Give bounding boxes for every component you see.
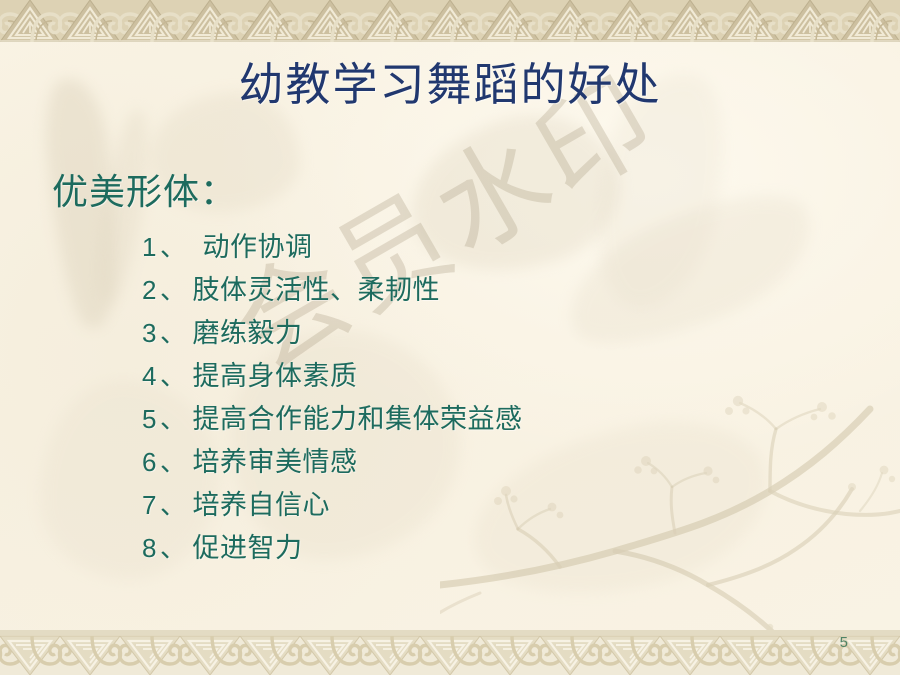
list-item: 4 、 提高身体素质	[142, 354, 862, 397]
slide-title: 幼教学习舞蹈的好处	[0, 48, 900, 113]
list-item: 5 、 提高合作能力和集体荣益感	[142, 397, 862, 440]
list-item: 7 、 培养自信心	[142, 483, 862, 526]
list-item-label: 培养审美情感	[193, 440, 358, 479]
list-item-label: 肢体灵活性、柔韧性	[193, 268, 441, 307]
list-item: 1 、 动作协调	[142, 225, 862, 268]
presentation-slide: 会员水印 幼教学习舞蹈的好处 优美形体： 1 、 动作协调 2 、 肢体灵活性、…	[0, 0, 900, 675]
top-border-ornament	[0, 0, 900, 42]
list-item-label: 促进智力	[193, 526, 303, 565]
list-item-number: 4	[142, 361, 160, 392]
section-heading: 优美形体：	[52, 163, 237, 215]
list-item-separator: 、	[160, 356, 187, 393]
list-item-separator: 、	[160, 528, 187, 565]
list-item-separator: 、	[160, 442, 187, 479]
list-item-separator: 、	[160, 485, 187, 522]
list-item-label: 动作协调	[193, 225, 313, 264]
list-item-number: 2	[142, 275, 160, 306]
list-item-number: 6	[142, 447, 160, 478]
list-item-separator: 、	[160, 313, 187, 350]
list-item-number: 5	[142, 404, 160, 435]
list-item: 8 、 促进智力	[142, 526, 862, 569]
list-item-separator: 、	[160, 270, 187, 307]
list-item: 6 、 培养审美情感	[142, 440, 862, 483]
list-item-number: 7	[142, 490, 160, 521]
list-item-number: 1	[142, 232, 160, 263]
page-number: 5	[840, 634, 848, 651]
list-item: 2 、 肢体灵活性、柔韧性	[142, 268, 862, 311]
list-item-label: 提高合作能力和集体荣益感	[193, 397, 523, 436]
benefits-list: 1 、 动作协调 2 、 肢体灵活性、柔韧性 3 、 磨练毅力 4 、 提高身体…	[142, 225, 862, 569]
list-item-label: 培养自信心	[193, 483, 331, 522]
list-item-separator: 、	[160, 399, 187, 436]
list-item-separator: 、	[160, 227, 187, 264]
list-item-number: 8	[142, 533, 160, 564]
list-item-label: 提高身体素质	[193, 354, 358, 393]
bottom-border-ornament	[0, 630, 900, 675]
list-item: 3 、 磨练毅力	[142, 311, 862, 354]
list-item-number: 3	[142, 318, 160, 349]
list-item-label: 磨练毅力	[193, 311, 303, 350]
